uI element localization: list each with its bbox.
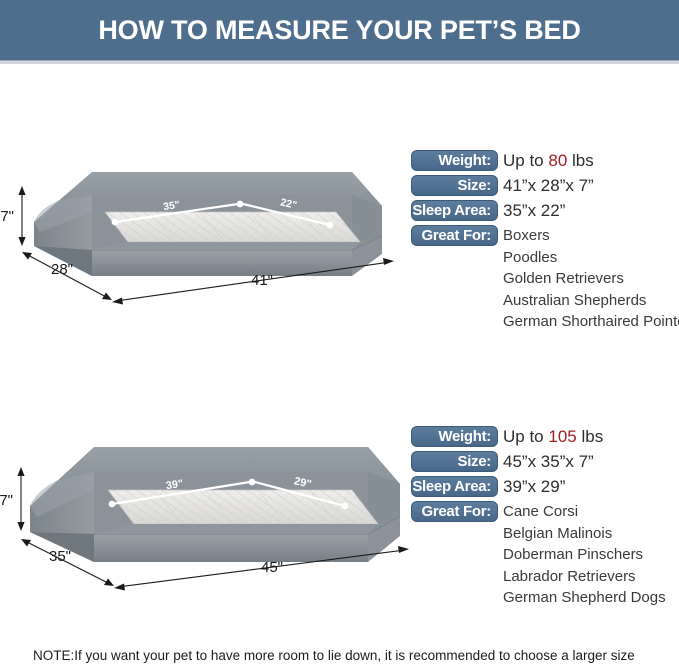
footer-note: NOTE:If you want your pet to have more r…	[33, 648, 635, 663]
bed-width-label: 45"	[261, 559, 283, 576]
label-weight: Weight:	[411, 426, 498, 447]
bed-width-label: 41"	[251, 272, 273, 289]
breed-list-large: Cane Corsi Belgian Malinois Doberman Pin…	[503, 501, 679, 609]
value-weight: Up to 105 lbs	[503, 426, 603, 447]
breed-list-medium: Boxers Poodles Golden Retrievers Austral…	[503, 225, 679, 333]
spec-row-sleep-area: Sleep Area: 35”x 22”	[411, 200, 679, 225]
weight-number: 105	[548, 427, 576, 446]
breed-item: Boxers	[503, 225, 679, 247]
bed-section-medium: 35" 22" 7" 28" 41" Weig	[0, 150, 679, 330]
value-weight: Up to 80 lbs	[503, 150, 594, 171]
value-sleep-area: 35”x 22”	[503, 200, 565, 221]
label-sleep-area: Sleep Area:	[411, 200, 498, 221]
bed-diagram-svg: 39" 29" 7" 35" 45"	[0, 424, 420, 599]
spec-panel-large: Weight: Up to 105 lbs Size: 45”x 35”x 7”…	[411, 426, 679, 609]
weight-prefix: Up to	[503, 151, 548, 170]
breed-item: German Shepherd Dogs	[503, 587, 679, 609]
label-size: Size:	[411, 175, 498, 196]
bed-height-label: 7"	[0, 208, 14, 225]
spec-panel-medium: Weight: Up to 80 lbs Size: 41”x 28”x 7” …	[411, 150, 679, 333]
spec-row-weight: Weight: Up to 80 lbs	[411, 150, 679, 175]
weight-number: 80	[548, 151, 567, 170]
weight-prefix: Up to	[503, 427, 548, 446]
value-sleep-area: 39”x 29”	[503, 476, 565, 497]
value-size: 41”x 28”x 7”	[503, 175, 594, 196]
inner-length-label: 35"	[162, 199, 180, 213]
label-weight: Weight:	[411, 150, 498, 171]
weight-suffix: lbs	[567, 151, 593, 170]
page-title: HOW TO MEASURE YOUR PET’S BED	[98, 15, 580, 46]
label-size: Size:	[411, 451, 498, 472]
breed-item: Belgian Malinois	[503, 523, 679, 545]
breed-item: Poodles	[503, 247, 679, 269]
weight-suffix: lbs	[577, 427, 603, 446]
label-great-for: Great For:	[411, 225, 498, 246]
breed-item: Doberman Pinschers	[503, 544, 679, 566]
spec-row-size: Size: 41”x 28”x 7”	[411, 175, 679, 200]
page-header: HOW TO MEASURE YOUR PET’S BED	[0, 0, 679, 60]
label-great-for: Great For:	[411, 501, 498, 522]
inner-length-label: 39"	[165, 478, 184, 492]
header-divider	[0, 60, 679, 64]
bed-depth-label: 35"	[49, 548, 71, 565]
value-size: 45”x 35”x 7”	[503, 451, 594, 472]
breed-item: Cane Corsi	[503, 501, 679, 523]
bed-height-label: 7"	[0, 492, 13, 509]
spec-row-sleep-area: Sleep Area: 39”x 29”	[411, 476, 679, 501]
bed-depth-label: 28"	[51, 261, 73, 278]
bed-diagram-svg: 35" 22" 7" 28" 41"	[0, 150, 405, 310]
breed-item: Labrador Retrievers	[503, 566, 679, 588]
breed-item: Australian Shepherds	[503, 290, 679, 312]
spec-row-size: Size: 45”x 35”x 7”	[411, 451, 679, 476]
bed-illustration-large: 39" 29" 7" 35" 45"	[0, 424, 420, 599]
label-sleep-area: Sleep Area:	[411, 476, 498, 497]
spec-row-weight: Weight: Up to 105 lbs	[411, 426, 679, 451]
breed-item: Golden Retrievers	[503, 268, 679, 290]
bed-section-large: 39" 29" 7" 35" 45" Weight: Up to 105 lbs	[0, 424, 679, 624]
bed-illustration-medium: 35" 22" 7" 28" 41"	[0, 150, 405, 310]
breed-item: German Shorthaired Pointers	[503, 311, 679, 333]
